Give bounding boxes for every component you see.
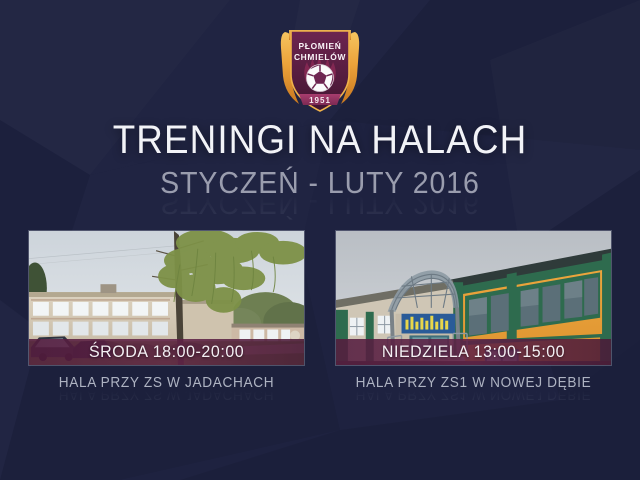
venue-name-reflection: HALA PRZY ZS W JADACHACH: [36, 389, 296, 402]
schedule-time-label: NIEDZIELA 13:00-15:00: [382, 342, 565, 362]
club-crest: PŁOMIEŃ CHMIELÓW 1951: [277, 18, 363, 114]
schedule-time-label: ŚRODA 18:00-20:00: [89, 342, 244, 362]
schedule-card: ŚRODA 18:00-20:00 HALA PRZY ZS W JADACHA…: [28, 230, 305, 402]
schedule-time-bar: NIEDZIELA 13:00-15:00: [336, 339, 611, 365]
venue-photo-nowa-deba: NIEDZIELA 13:00-15:00: [335, 230, 612, 366]
page-title: TRENINGI NA HALACH: [26, 118, 615, 162]
schedule-card: NIEDZIELA 13:00-15:00 HALA PRZY ZS1 W NO…: [335, 230, 612, 402]
schedule-time-bar: ŚRODA 18:00-20:00: [29, 339, 304, 365]
header-block: TRENINGI NA HALACH STYCZEŃ - LUTY 2016 S…: [0, 118, 640, 220]
crest-founded-year: 1951: [309, 96, 331, 105]
schedule-cards: ŚRODA 18:00-20:00 HALA PRZY ZS W JADACHA…: [0, 230, 640, 402]
soccer-ball-icon: [307, 65, 334, 92]
venue-photo-jadachy: ŚRODA 18:00-20:00: [28, 230, 305, 366]
page-subtitle-reflection: STYCZEŃ - LUTY 2016: [26, 194, 615, 220]
poster-canvas: PŁOMIEŃ CHMIELÓW 1951 TRENINGI NA HALACH: [0, 0, 640, 480]
crest-club-name-line2: CHMIELÓW: [294, 51, 346, 62]
crest-club-name-line1: PŁOMIEŃ: [298, 40, 341, 51]
venue-name-reflection: HALA PRZY ZS1 W NOWEJ DĘBIE: [343, 389, 603, 402]
